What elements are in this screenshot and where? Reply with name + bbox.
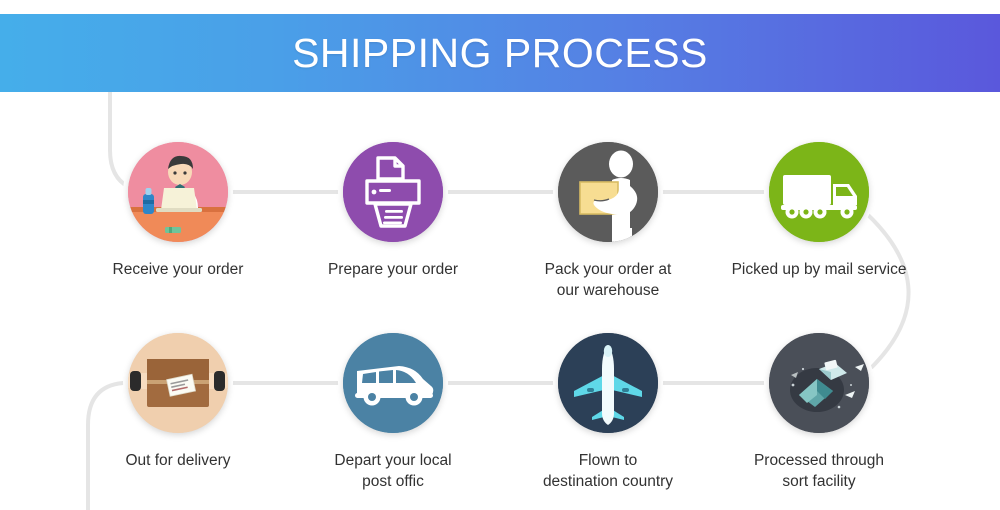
step-out-for-delivery[interactable]: Out for delivery	[78, 333, 278, 472]
person-at-desk-icon	[128, 142, 228, 242]
step-label: Processed through sort facility	[754, 451, 884, 492]
step-depart-local-post-office[interactable]: Depart your local post offic	[293, 333, 493, 492]
delivery-truck-icon	[769, 142, 869, 242]
step-label: Prepare your order	[328, 260, 458, 281]
hands-holding-parcel-icon	[128, 333, 228, 433]
step-pack-your-order[interactable]: Pack your order at our warehouse	[508, 142, 708, 301]
step-label: Receive your order	[113, 260, 244, 281]
airplane-icon	[558, 333, 658, 433]
step-picked-up-by-mail-service[interactable]: Picked up by mail service	[719, 142, 919, 281]
step-prepare-your-order[interactable]: Prepare your order	[293, 142, 493, 281]
step-processed-sort-facility[interactable]: Processed through sort facility	[719, 333, 919, 492]
step-label: Out for delivery	[125, 451, 230, 472]
delivery-van-icon	[343, 333, 443, 433]
step-label: Flown to destination country	[543, 451, 673, 492]
step-flown-to-destination[interactable]: Flown to destination country	[508, 333, 708, 492]
person-carrying-box-icon	[558, 142, 658, 242]
parcel-sorting-icon	[769, 333, 869, 433]
header-banner: SHIPPING PROCESS	[0, 14, 1000, 92]
step-receive-your-order[interactable]: Receive your order	[78, 142, 278, 281]
printer-icon	[343, 142, 443, 242]
step-label: Pack your order at our warehouse	[545, 260, 672, 301]
step-label: Picked up by mail service	[732, 260, 907, 281]
page-title: SHIPPING PROCESS	[292, 33, 708, 74]
step-label: Depart your local post offic	[334, 451, 451, 492]
